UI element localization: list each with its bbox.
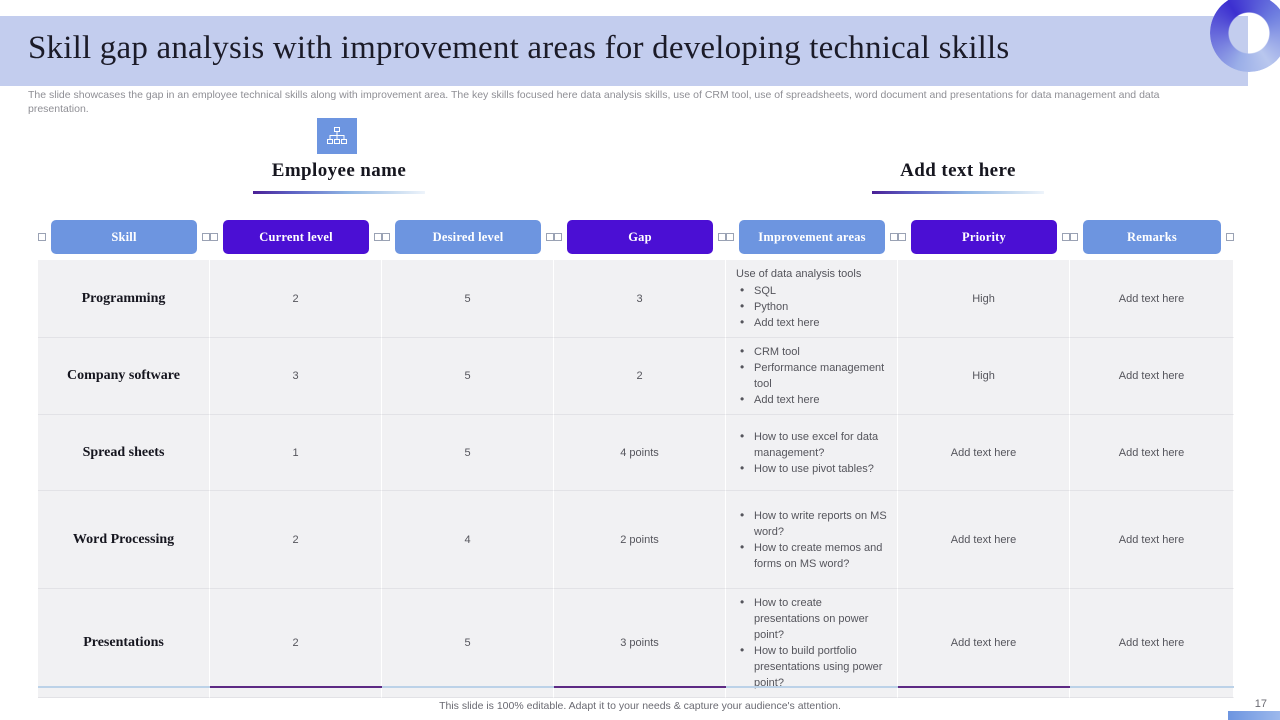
- cell-skill: Word Processing: [38, 491, 210, 589]
- column-accent-bar: [1070, 686, 1234, 688]
- cell-priority-text: High: [972, 293, 995, 305]
- cell-skill-text: Company software: [67, 368, 180, 384]
- resize-handle-right[interactable]: [1226, 233, 1234, 241]
- table-row: Presentations253 pointsHow to create pre…: [38, 589, 1234, 698]
- cell-current-level: 2: [210, 491, 382, 589]
- resize-handle-right[interactable]: [1062, 233, 1070, 241]
- cell-remarks-text: Add text here: [1119, 534, 1184, 546]
- cell-current-level: 2: [210, 589, 382, 698]
- column-accent-bar: [38, 686, 210, 688]
- cell-current-level: 1: [210, 415, 382, 491]
- improvement-bullet-list: How to use excel for data management?How…: [736, 429, 887, 477]
- table-body: Programming253Use of data analysis tools…: [38, 260, 1234, 698]
- cell-desired-level-text: 4: [464, 534, 470, 546]
- cell-remarks-text: Add text here: [1119, 447, 1184, 459]
- table-row: Word Processing242 pointsHow to write re…: [38, 491, 1234, 589]
- cell-priority: Add text here: [898, 491, 1070, 589]
- column-accent-bar: [382, 686, 554, 688]
- cell-improvement-areas: How to write reports on MS word?How to c…: [726, 491, 898, 589]
- cell-gap-text: 4 points: [620, 447, 659, 459]
- improvement-bullet-item: How to write reports on MS word?: [736, 508, 887, 540]
- section-underline: [253, 191, 425, 194]
- improvement-bullet-item: How to create presentations on power poi…: [736, 595, 887, 643]
- cell-desired-level: 5: [382, 589, 554, 698]
- table-header-cell[interactable]: Current level: [210, 214, 382, 260]
- cell-gap-text: 3: [636, 293, 642, 305]
- cell-skill-text: Presentations: [83, 635, 164, 651]
- resize-handle-right[interactable]: [202, 233, 210, 241]
- cell-priority-text: Add text here: [951, 447, 1016, 459]
- slide-description: The slide showcases the gap in an employ…: [28, 88, 1208, 116]
- cell-priority-text: Add text here: [951, 534, 1016, 546]
- cell-gap: 3: [554, 260, 726, 338]
- column-accent-bar: [554, 686, 726, 688]
- cell-current-level-text: 1: [292, 447, 298, 459]
- org-chart-icon: [317, 118, 357, 154]
- cell-skill: Company software: [38, 338, 210, 415]
- table-header-cell[interactable]: Desired level: [382, 214, 554, 260]
- improvement-bullet-list: CRM toolPerformance management toolAdd t…: [736, 344, 887, 408]
- cell-current-level: 3: [210, 338, 382, 415]
- cell-remarks-text: Add text here: [1119, 370, 1184, 382]
- resize-handle-right[interactable]: [718, 233, 726, 241]
- table-header-cell[interactable]: Skill: [38, 214, 210, 260]
- cell-current-level-text: 2: [292, 293, 298, 305]
- column-accent-bar: [210, 686, 382, 688]
- cell-improvement-areas: How to create presentations on power poi…: [726, 589, 898, 698]
- resize-handle-left[interactable]: [38, 233, 46, 241]
- improvement-bullet-item: SQL: [736, 283, 887, 299]
- column-header-pill[interactable]: Priority: [911, 220, 1057, 254]
- page-title: Skill gap analysis with improvement area…: [28, 30, 1009, 67]
- table-bottom-accent-bars: [38, 686, 1234, 688]
- cell-priority: Add text here: [898, 589, 1070, 698]
- improvement-bullet-item: CRM tool: [736, 344, 887, 360]
- resize-handle-left[interactable]: [898, 233, 906, 241]
- cell-skill: Presentations: [38, 589, 210, 698]
- section-label: Add text here: [872, 160, 1044, 182]
- cell-desired-level: 5: [382, 415, 554, 491]
- column-header-label: Gap: [628, 230, 652, 245]
- cell-gap-text: 2: [636, 370, 642, 382]
- cell-desired-level-text: 5: [464, 370, 470, 382]
- improvement-list: How to use excel for data management?How…: [736, 429, 887, 477]
- improvement-list: How to write reports on MS word?How to c…: [736, 508, 887, 572]
- table-header-cell[interactable]: Priority: [898, 214, 1070, 260]
- cell-priority-text: Add text here: [951, 637, 1016, 649]
- improvement-list: CRM toolPerformance management toolAdd t…: [736, 344, 887, 408]
- improvement-bullet-list: How to create presentations on power poi…: [736, 595, 887, 691]
- improvement-bullet-item: Performance management tool: [736, 360, 887, 392]
- table-row: Company software352CRM toolPerformance m…: [38, 338, 1234, 415]
- cell-skill: Programming: [38, 260, 210, 338]
- column-header-pill[interactable]: Desired level: [395, 220, 541, 254]
- cell-current-level-text: 2: [292, 534, 298, 546]
- table-row: Spread sheets154 pointsHow to use excel …: [38, 415, 1234, 491]
- column-header-label: Remarks: [1127, 230, 1177, 245]
- cell-remarks: Add text here: [1070, 491, 1234, 589]
- cell-desired-level: 5: [382, 260, 554, 338]
- resize-handle-right[interactable]: [546, 233, 554, 241]
- cell-desired-level-text: 5: [464, 637, 470, 649]
- improvement-bullet-item: Add text here: [736, 315, 887, 331]
- cell-gap: 2: [554, 338, 726, 415]
- column-header-pill[interactable]: Remarks: [1083, 220, 1221, 254]
- column-accent-bar: [898, 686, 1070, 688]
- cell-gap-text: 3 points: [620, 637, 659, 649]
- cell-priority: High: [898, 338, 1070, 415]
- cell-priority-text: High: [972, 370, 995, 382]
- cell-gap: 3 points: [554, 589, 726, 698]
- cell-priority: High: [898, 260, 1070, 338]
- column-header-pill[interactable]: Skill: [51, 220, 197, 254]
- column-header-pill[interactable]: Gap: [567, 220, 713, 254]
- cell-remarks: Add text here: [1070, 589, 1234, 698]
- cell-current-level-text: 3: [292, 370, 298, 382]
- column-header-label: Current level: [259, 230, 333, 245]
- section-heading-add-text-here: Add text here: [872, 160, 1044, 194]
- cell-priority: Add text here: [898, 415, 1070, 491]
- table-header-cell[interactable]: Gap: [554, 214, 726, 260]
- improvement-list: Use of data analysis toolsSQLPythonAdd t…: [736, 266, 887, 331]
- improvement-bullet-item: How to use excel for data management?: [736, 429, 887, 461]
- footer-note: This slide is 100% editable. Adapt it to…: [0, 700, 1280, 712]
- improvement-bullet-list: SQLPythonAdd text here: [736, 283, 887, 331]
- cell-improvement-areas: How to use excel for data management?How…: [726, 415, 898, 491]
- cell-improvement-areas: CRM toolPerformance management toolAdd t…: [726, 338, 898, 415]
- section-heading-employee-name: Employee name: [253, 160, 425, 194]
- resize-handle-right[interactable]: [374, 233, 382, 241]
- cell-skill-text: Programming: [82, 291, 166, 307]
- cell-desired-level-text: 5: [464, 447, 470, 459]
- cell-remarks-text: Add text here: [1119, 293, 1184, 305]
- cell-remarks: Add text here: [1070, 260, 1234, 338]
- cell-skill: Spread sheets: [38, 415, 210, 491]
- improvement-bullet-item: How to build portfolio presentations usi…: [736, 643, 887, 691]
- column-header-pill[interactable]: Current level: [223, 220, 369, 254]
- column-accent-bar: [726, 686, 898, 688]
- cell-remarks: Add text here: [1070, 415, 1234, 491]
- improvement-bullet-item: Add text here: [736, 392, 887, 408]
- cell-skill-text: Spread sheets: [83, 445, 165, 461]
- improvement-bullet-item: Python: [736, 299, 887, 315]
- column-header-pill[interactable]: Improvement areas: [739, 220, 885, 254]
- cell-remarks-text: Add text here: [1119, 637, 1184, 649]
- page-number: 17: [1255, 698, 1267, 710]
- table-header-row: SkillCurrent levelDesired levelGapImprov…: [38, 214, 1234, 260]
- improvement-lead-text: Use of data analysis tools: [736, 266, 887, 282]
- cell-skill-text: Word Processing: [73, 532, 174, 548]
- slide-canvas: Skill gap analysis with improvement area…: [0, 0, 1280, 720]
- improvement-bullet-item: How to create memos and forms on MS word…: [736, 540, 887, 572]
- table-header-cell[interactable]: Improvement areas: [726, 214, 898, 260]
- column-header-label: Skill: [111, 230, 136, 245]
- resize-handle-left[interactable]: [210, 233, 218, 241]
- cell-desired-level: 4: [382, 491, 554, 589]
- improvement-bullet-item: How to use pivot tables?: [736, 461, 887, 477]
- improvement-list: How to create presentations on power poi…: [736, 595, 887, 691]
- section-label: Employee name: [253, 160, 425, 182]
- column-header-label: Desired level: [433, 230, 504, 245]
- cell-improvement-areas: Use of data analysis toolsSQLPythonAdd t…: [726, 260, 898, 338]
- corner-accent-bar: [1228, 711, 1280, 720]
- column-header-label: Improvement areas: [758, 230, 865, 245]
- cell-gap: 4 points: [554, 415, 726, 491]
- resize-handle-left[interactable]: [554, 233, 562, 241]
- improvement-bullet-list: How to write reports on MS word?How to c…: [736, 508, 887, 572]
- cell-current-level-text: 2: [292, 637, 298, 649]
- section-underline: [872, 191, 1044, 194]
- resize-handle-right[interactable]: [890, 233, 898, 241]
- table-header-cell[interactable]: Remarks: [1070, 214, 1234, 260]
- resize-handle-left[interactable]: [726, 233, 734, 241]
- cell-gap: 2 points: [554, 491, 726, 589]
- cell-current-level: 2: [210, 260, 382, 338]
- column-header-label: Priority: [962, 230, 1006, 245]
- cell-remarks: Add text here: [1070, 338, 1234, 415]
- resize-handle-left[interactable]: [382, 233, 390, 241]
- skill-gap-table: SkillCurrent levelDesired levelGapImprov…: [38, 214, 1234, 698]
- table-row: Programming253Use of data analysis tools…: [38, 260, 1234, 338]
- cell-desired-level: 5: [382, 338, 554, 415]
- cell-desired-level-text: 5: [464, 293, 470, 305]
- cell-gap-text: 2 points: [620, 534, 659, 546]
- resize-handle-left[interactable]: [1070, 233, 1078, 241]
